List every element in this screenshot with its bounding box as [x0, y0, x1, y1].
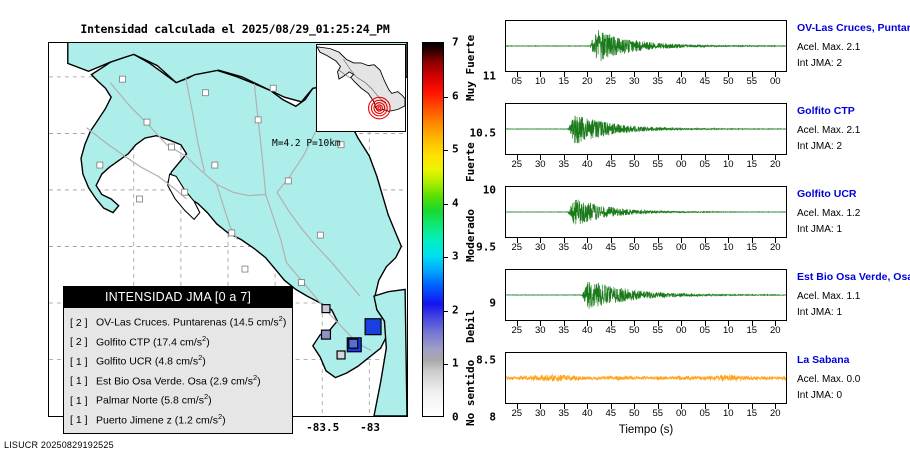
waveform-trace-panel[interactable]	[505, 186, 787, 238]
waveform-graphic	[506, 104, 786, 154]
axis-tick-label: 25	[505, 408, 529, 419]
axis-tick-label: 15	[552, 76, 576, 87]
axis-tick-label: 55	[646, 159, 670, 170]
colorbar-gradient	[423, 43, 443, 416]
axis-tick-label: 55	[646, 242, 670, 253]
waveform-graphic	[506, 187, 786, 237]
axis-tick-label: 15	[740, 242, 764, 253]
map-x-tick: -83	[335, 421, 405, 434]
colorbar-category-label: Moderado	[464, 209, 477, 262]
waveform-time-axis: 253035404550550005101520	[505, 404, 787, 418]
legend-intensity-value: [ 1 ]	[70, 354, 96, 370]
intensity-colorbar	[422, 42, 444, 417]
axis-tick-label: 20	[763, 242, 787, 253]
axis-tick-label: 50	[622, 408, 646, 419]
axis-tick-label: 15	[740, 159, 764, 170]
intensity-legend: INTENSIDAD JMA [0 a 7] [ 2 ]OV-Las Cruce…	[63, 286, 293, 434]
axis-tick-label: 50	[622, 325, 646, 336]
waveform-trace-panel[interactable]	[505, 103, 787, 155]
legend-station-name: Est Bio Osa Verde. Osa (2.9 cm/s	[96, 375, 253, 387]
legend-row: [ 2 ]Golfito CTP (17.4 cm/s2)	[70, 331, 286, 351]
waveform-trace-panel[interactable]	[505, 352, 787, 404]
axis-tick-label: 35	[552, 408, 576, 419]
axis-tick-label: 00	[669, 242, 693, 253]
time-axis-label: Tiempo (s)	[505, 424, 787, 436]
legend-intensity-value: [ 2 ]	[70, 334, 96, 350]
axis-tick-label: 20	[575, 76, 599, 87]
legend-station-list: [ 2 ]OV-Las Cruces. Puntarenas (14.5 cm/…	[64, 308, 292, 433]
colorbar-category-label: Muy Fuerte	[464, 35, 477, 101]
axis-tick-label: 10	[716, 159, 740, 170]
regional-inset-map	[316, 44, 406, 132]
colorbar-tick-mark	[443, 364, 448, 365]
legend-intensity-value: [ 2 ]	[70, 315, 96, 331]
legend-station-name: Puerto Jimene z (1.2 cm/s	[96, 414, 218, 426]
axis-tick-label: 00	[669, 325, 693, 336]
waveform-time-axis: 253035404550550005101520	[505, 238, 787, 252]
axis-tick-label: 40	[575, 242, 599, 253]
axis-tick-label: 55	[740, 76, 764, 87]
waveform-peak-acceleration: Acel. Max. 1.1	[797, 291, 860, 302]
axis-tick-label: 25	[505, 159, 529, 170]
axis-tick-label: 05	[693, 325, 717, 336]
axis-tick-label: 00	[669, 408, 693, 419]
legend-row: [ 2 ]OV-Las Cruces. Puntarenas (14.5 cm/…	[70, 311, 286, 331]
seismic-intensity-report: Intensidad calculada el 2025/08/29_01:25…	[0, 0, 910, 460]
axis-tick-label: 25	[599, 76, 623, 87]
legend-row: [ 1 ]Palmar Norte (5.8 cm/s2)	[70, 389, 286, 409]
legend-paren-close: )	[206, 336, 210, 348]
axis-tick-label: 25	[505, 242, 529, 253]
waveform-jma-intensity: Int JMA: 0	[797, 390, 842, 401]
legend-station-name: OV-Las Cruces. Puntarenas (14.5 cm/s	[96, 317, 279, 329]
legend-intensity-value: [ 1 ]	[70, 373, 96, 389]
axis-tick-label: 25	[505, 325, 529, 336]
waveform-time-axis: 253035404550550005101520	[505, 321, 787, 335]
axis-tick-label: 10	[528, 76, 552, 87]
legend-paren-close: )	[257, 375, 261, 387]
axis-tick-label: 40	[669, 76, 693, 87]
waveform-time-axis: 253035404550550005101520	[505, 155, 787, 169]
axis-tick-label: 45	[599, 242, 623, 253]
map-y-tick: 10.5	[436, 126, 496, 139]
colorbar-tick-label: 4	[452, 196, 468, 209]
map-y-tick: 10	[436, 183, 496, 196]
axis-tick-label: 45	[599, 325, 623, 336]
waveform-time-axis: 051015202530354045505500	[505, 72, 787, 86]
colorbar-category-label: Fuerte	[464, 142, 477, 182]
waveform-jma-intensity: Int JMA: 2	[797, 141, 842, 152]
waveform-jma-intensity: Int JMA: 1	[797, 224, 842, 235]
footer-stamp: LISUCR 20250829192525	[4, 440, 114, 450]
axis-tick-label: 30	[622, 76, 646, 87]
waveform-peak-acceleration: Acel. Max. 0.0	[797, 374, 860, 385]
axis-tick-label: 55	[646, 325, 670, 336]
waveform-station-name[interactable]: La Sabana	[797, 354, 850, 366]
axis-tick-label: 05	[693, 242, 717, 253]
axis-tick-label: 35	[552, 325, 576, 336]
axis-tick-label: 45	[693, 76, 717, 87]
axis-tick-label: 05	[693, 159, 717, 170]
legend-paren-close: )	[283, 317, 287, 329]
colorbar-tick-mark	[443, 97, 448, 98]
legend-station-name: Golfito CTP (17.4 cm/s	[96, 336, 202, 348]
legend-row: [ 1 ]Puerto Jimene z (1.2 cm/s2)	[70, 409, 286, 429]
colorbar-tick-mark	[443, 257, 448, 258]
axis-tick-label: 30	[528, 408, 552, 419]
axis-tick-label: 35	[646, 76, 670, 87]
axis-tick-label: 45	[599, 408, 623, 419]
axis-tick-label: 30	[528, 242, 552, 253]
axis-tick-label: 00	[763, 76, 787, 87]
waveform-trace-panel[interactable]	[505, 269, 787, 321]
legend-intensity-value: [ 1 ]	[70, 412, 96, 428]
axis-tick-label: 35	[552, 242, 576, 253]
axis-tick-label: 30	[528, 325, 552, 336]
axis-tick-label: 50	[622, 242, 646, 253]
waveform-graphic	[506, 270, 786, 320]
waveform-jma-intensity: Int JMA: 2	[797, 58, 842, 69]
waveform-jma-intensity: Int JMA: 1	[797, 307, 842, 318]
axis-tick-label: 10	[716, 242, 740, 253]
legend-row: [ 1 ]Golfito UCR (4.8 cm/s2)	[70, 350, 286, 370]
colorbar-tick-mark	[443, 204, 448, 205]
legend-station-name: Palmar Norte (5.8 cm/s	[96, 395, 204, 407]
axis-tick-label: 45	[599, 159, 623, 170]
waveform-station-name[interactable]: OV-Las Cruces, Puntar	[797, 22, 910, 34]
axis-tick-label: 20	[763, 159, 787, 170]
axis-tick-label: 40	[575, 159, 599, 170]
waveform-trace-panel[interactable]	[505, 20, 787, 72]
legend-station-name: Golfito UCR (4.8 cm/s	[96, 356, 198, 368]
legend-title: INTENSIDAD JMA [0 a 7]	[64, 287, 292, 308]
axis-tick-label: 35	[552, 159, 576, 170]
axis-tick-label: 40	[575, 408, 599, 419]
legend-paren-close: )	[202, 356, 206, 368]
axis-tick-label: 55	[646, 408, 670, 419]
axis-tick-label: 15	[740, 408, 764, 419]
axis-tick-label: 50	[622, 159, 646, 170]
colorbar-category-label: No sentido	[464, 359, 477, 425]
axis-tick-label: 40	[575, 325, 599, 336]
colorbar-tick-mark	[443, 150, 448, 151]
waveform-graphic	[506, 21, 786, 71]
epicenter-info-label: M=4.2 P=10km	[272, 138, 341, 149]
page-title: Intensidad calculada el 2025/08/29_01:25…	[40, 22, 430, 36]
waveform-peak-acceleration: Acel. Max. 2.1	[797, 125, 860, 136]
axis-tick-label: 15	[740, 325, 764, 336]
waveform-peak-acceleration: Acel. Max. 1.2	[797, 208, 860, 219]
axis-tick-label: 10	[716, 325, 740, 336]
axis-tick-label: 05	[505, 76, 529, 87]
waveform-station-name[interactable]: Est Bio Osa Verde, Osa	[797, 271, 910, 283]
waveform-station-name[interactable]: Golfito UCR	[797, 188, 857, 200]
legend-paren-close: )	[222, 414, 226, 426]
axis-tick-label: 30	[528, 159, 552, 170]
colorbar-category-label: Debil	[464, 309, 477, 342]
legend-intensity-value: [ 1 ]	[70, 393, 96, 409]
colorbar-tick-mark	[443, 311, 448, 312]
waveform-peak-acceleration: Acel. Max. 2.1	[797, 42, 860, 53]
axis-tick-label: 20	[763, 325, 787, 336]
waveform-graphic	[506, 353, 786, 403]
legend-row: [ 1 ]Est Bio Osa Verde. Osa (2.9 cm/s2)	[70, 370, 286, 390]
legend-paren-close: )	[208, 395, 212, 407]
inset-map-graphic	[317, 45, 405, 131]
axis-tick-label: 10	[716, 408, 740, 419]
axis-tick-label: 20	[763, 408, 787, 419]
axis-tick-label: 05	[693, 408, 717, 419]
axis-tick-label: 00	[669, 159, 693, 170]
waveform-station-name[interactable]: Golfito CTP	[797, 105, 855, 117]
axis-tick-label: 50	[716, 76, 740, 87]
